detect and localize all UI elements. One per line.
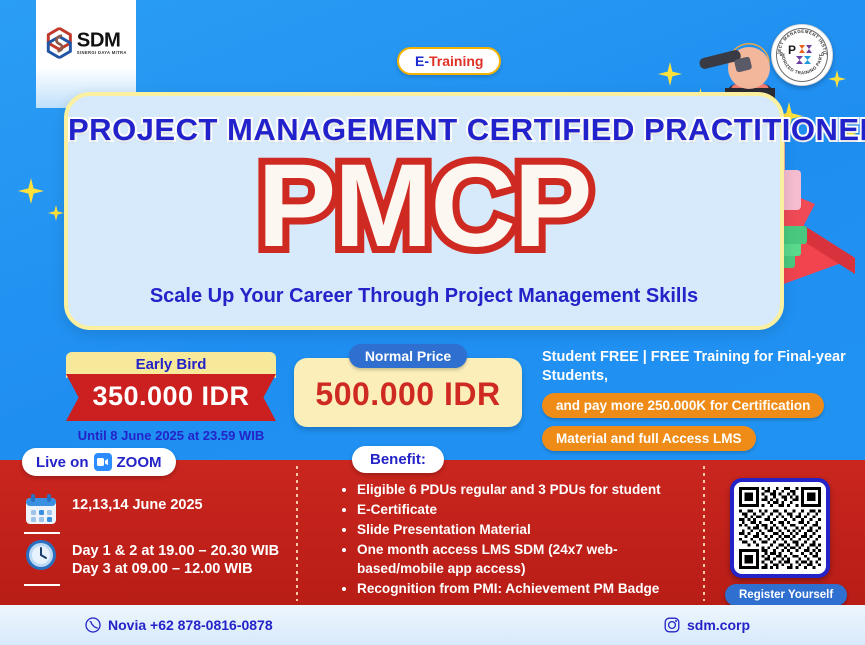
- list-item: Slide Presentation Material: [357, 520, 690, 539]
- student-offer-pill-lms: Material and full Access LMS: [542, 426, 756, 451]
- live-on-label: Live on: [36, 454, 89, 471]
- benefits-block: Eligible 6 PDUs regular and 3 PDUs for s…: [340, 480, 690, 599]
- schedule-time-day12: Day 1 & 2 at 19.00 – 20.30 WIB: [72, 538, 279, 560]
- poster-canvas: SDM SINERGI DAYA MITRA PROJECT MANAGEMEN…: [0, 0, 865, 645]
- schedule-time-day3: Day 3 at 09.00 – 12.00 WIB: [72, 560, 279, 578]
- sparkle-icon: [18, 178, 44, 204]
- normal-price-label: Normal Price: [349, 344, 467, 368]
- instagram-icon: [664, 617, 680, 633]
- phone-number: Novia +62 878-0816-0878: [108, 617, 273, 633]
- etraining-badge-suffix: Training: [429, 53, 483, 69]
- live-on-zoom-badge: Live on ZOOM: [22, 448, 176, 476]
- panel-divider-right: [703, 466, 705, 601]
- acronym-title: PMCP: [68, 142, 780, 272]
- early-bird-deadline: Until 8 June 2025 at 23.59 WIB: [66, 428, 276, 443]
- schedule-divider-1: [24, 532, 60, 534]
- contact-instagram[interactable]: sdm.corp: [664, 617, 750, 633]
- instagram-handle: sdm.corp: [687, 617, 750, 633]
- benefits-list: Eligible 6 PDUs regular and 3 PDUs for s…: [340, 480, 690, 598]
- student-offer-headline: Student FREE | FREE Training for Final-y…: [542, 348, 857, 385]
- student-offer-block: Student FREE | FREE Training for Final-y…: [542, 348, 857, 451]
- early-bird-amount: 350.000 IDR: [66, 374, 276, 421]
- logo-wordmark: SDM: [77, 30, 127, 50]
- list-item: One month access LMS SDM (24x7 web-based…: [357, 540, 690, 578]
- hero-card: PROJECT MANAGEMENT CERTIFIED PRACTITIONE…: [64, 92, 784, 330]
- etraining-badge: E-Training: [397, 47, 501, 75]
- schedule-block: 12,13,14 June 2025 Day 1 & 2 at 19.00 – …: [24, 492, 292, 590]
- panel-divider-left: [296, 466, 298, 601]
- list-item: E-Certificate: [357, 500, 690, 519]
- normal-price-box: 500.000 IDR: [294, 358, 522, 427]
- register-button[interactable]: Register Yourself: [725, 584, 847, 606]
- registration-block: Register Yourself: [725, 478, 835, 606]
- schedule-divider-2: [24, 584, 60, 586]
- zoom-icon: [94, 453, 112, 471]
- contact-phone[interactable]: Novia +62 878-0816-0878: [85, 617, 273, 633]
- zoom-label: ZOOM: [117, 454, 162, 471]
- normal-price-amount: 500.000 IDR: [315, 376, 500, 412]
- schedule-dates: 12,13,14 June 2025: [72, 492, 203, 514]
- calendar-icon: [24, 492, 58, 526]
- clock-icon: [24, 538, 58, 572]
- logo-tagline: SINERGI DAYA MITRA: [77, 51, 127, 55]
- sdm-logo-icon: [45, 27, 73, 58]
- list-item: Recognition from PMI: Achievement PM Bad…: [357, 579, 690, 598]
- qr-code[interactable]: [730, 478, 830, 578]
- list-item: Eligible 6 PDUs regular and 3 PDUs for s…: [357, 480, 690, 499]
- benefit-heading: Benefit:: [352, 446, 444, 473]
- phone-icon: [85, 617, 101, 633]
- normal-price-block: Normal Price 500.000 IDR: [294, 344, 522, 427]
- etraining-badge-prefix: E-: [415, 53, 429, 69]
- early-bird-price-block: Early Bird 350.000 IDR Until 8 June 2025…: [66, 352, 276, 443]
- student-offer-pill-certification: and pay more 250.000K for Certification: [542, 393, 824, 418]
- footer-bar: Novia +62 878-0816-0878 sdm.corp: [0, 605, 865, 645]
- hero-subtitle: Scale Up Your Career Through Project Man…: [68, 285, 780, 308]
